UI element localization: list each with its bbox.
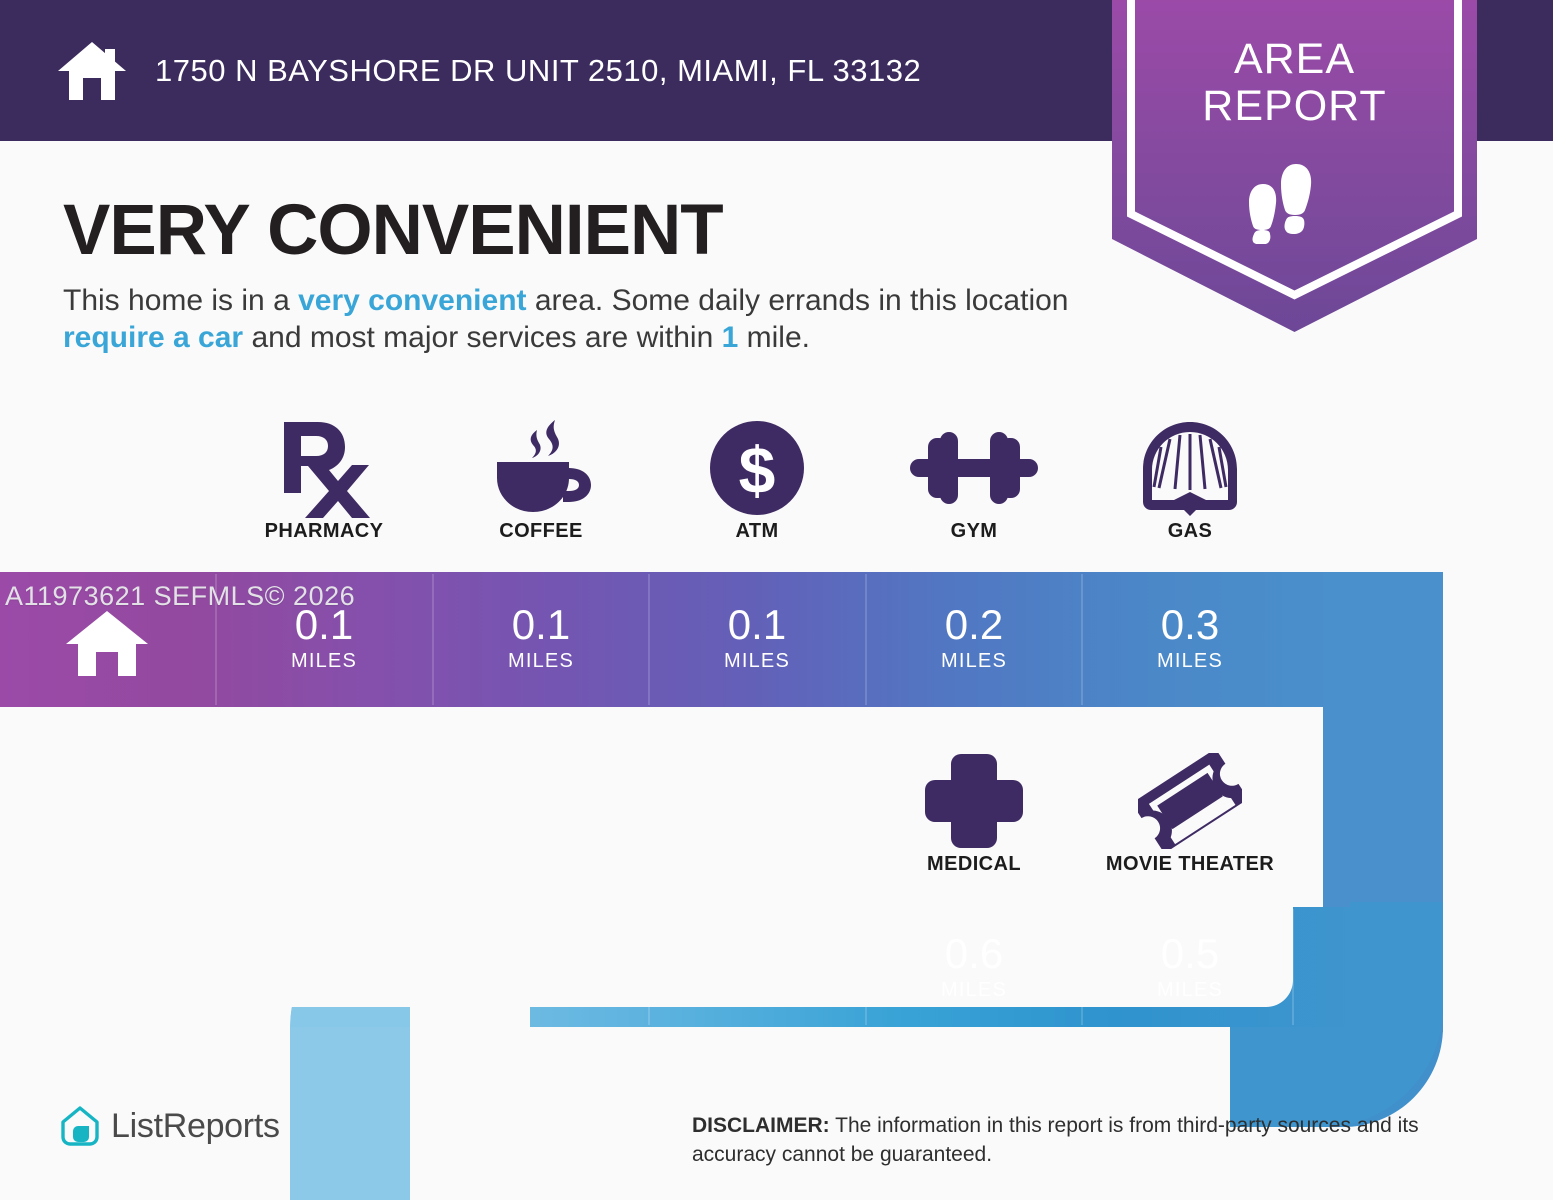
amenity-movie-theater: MOVIE THEATER [1082, 748, 1298, 898]
amenity-label: MEDICAL [927, 853, 1021, 876]
listreports-logo-text: ListReports [111, 1107, 280, 1146]
amenity-label: MOVIE THEATER [1106, 853, 1274, 876]
home-icon [57, 40, 127, 102]
summary-description: This home is in a very convenient area. … [63, 283, 1103, 356]
amenity-icon-row-2: MEDICAL MOVIE THEATER [0, 748, 1553, 898]
amenity-label: PHARMACY [265, 520, 384, 543]
amenity-gym: GYM [866, 415, 1082, 565]
summary-text-4: mile. [738, 321, 810, 354]
summary-highlight-3: 1 [722, 321, 739, 354]
amenity-label: COFFEE [499, 520, 583, 543]
amenity-medical: MEDICAL [866, 748, 1082, 898]
summary-text-1: This home is in a [63, 284, 298, 317]
disclaimer-label: DISCLAIMER: [692, 1114, 830, 1137]
amenity-gas: GAS [1082, 415, 1298, 565]
coffee-cup-icon [489, 415, 593, 520]
footprints-icon [1246, 160, 1342, 244]
movie-ticket-icon [1138, 748, 1242, 853]
dollar-circle-icon: $ [708, 415, 806, 520]
amenity-label: ATM [735, 520, 778, 543]
amenity-atm: $ ATM [649, 415, 865, 565]
amenity-icon-row-1: PHARMACY COFFEE $ [0, 415, 1553, 565]
badge-line-1: AREA [1112, 38, 1477, 81]
badge-title: AREA REPORT [1112, 38, 1477, 128]
home-icon [64, 608, 150, 678]
amenity-coffee: COFFEE [433, 415, 649, 565]
listreports-house-tag-icon [60, 1105, 100, 1147]
amenity-label: GYM [951, 520, 998, 543]
medical-cross-icon [925, 748, 1023, 853]
mls-watermark: A11973621 SEFMLS© 2026 [5, 581, 355, 612]
dumbbell-icon [910, 415, 1038, 520]
summary-text-2: area. Some daily errands in this locatio… [527, 284, 1069, 317]
disclaimer: DISCLAIMER: The information in this repo… [692, 1112, 1502, 1169]
property-address: 1750 N BAYSHORE DR UNIT 2510, MIAMI, FL … [155, 53, 921, 89]
gas-shell-icon [1140, 415, 1240, 520]
summary-text-3: and most major services are within [243, 321, 722, 354]
page-title: VERY CONVENIENT [63, 190, 723, 271]
svg-text:$: $ [739, 433, 776, 507]
summary-highlight-2: require a car [63, 321, 243, 354]
listreports-logo: ListReports [60, 1105, 280, 1147]
amenity-pharmacy: PHARMACY [216, 415, 432, 565]
rx-prescription-icon [278, 415, 370, 520]
area-report-page: 1750 N BAYSHORE DR UNIT 2510, MIAMI, FL … [0, 0, 1553, 1200]
summary-highlight-1: very convenient [298, 284, 526, 317]
amenity-label: GAS [1168, 520, 1213, 543]
badge-line-2: REPORT [1112, 85, 1477, 128]
